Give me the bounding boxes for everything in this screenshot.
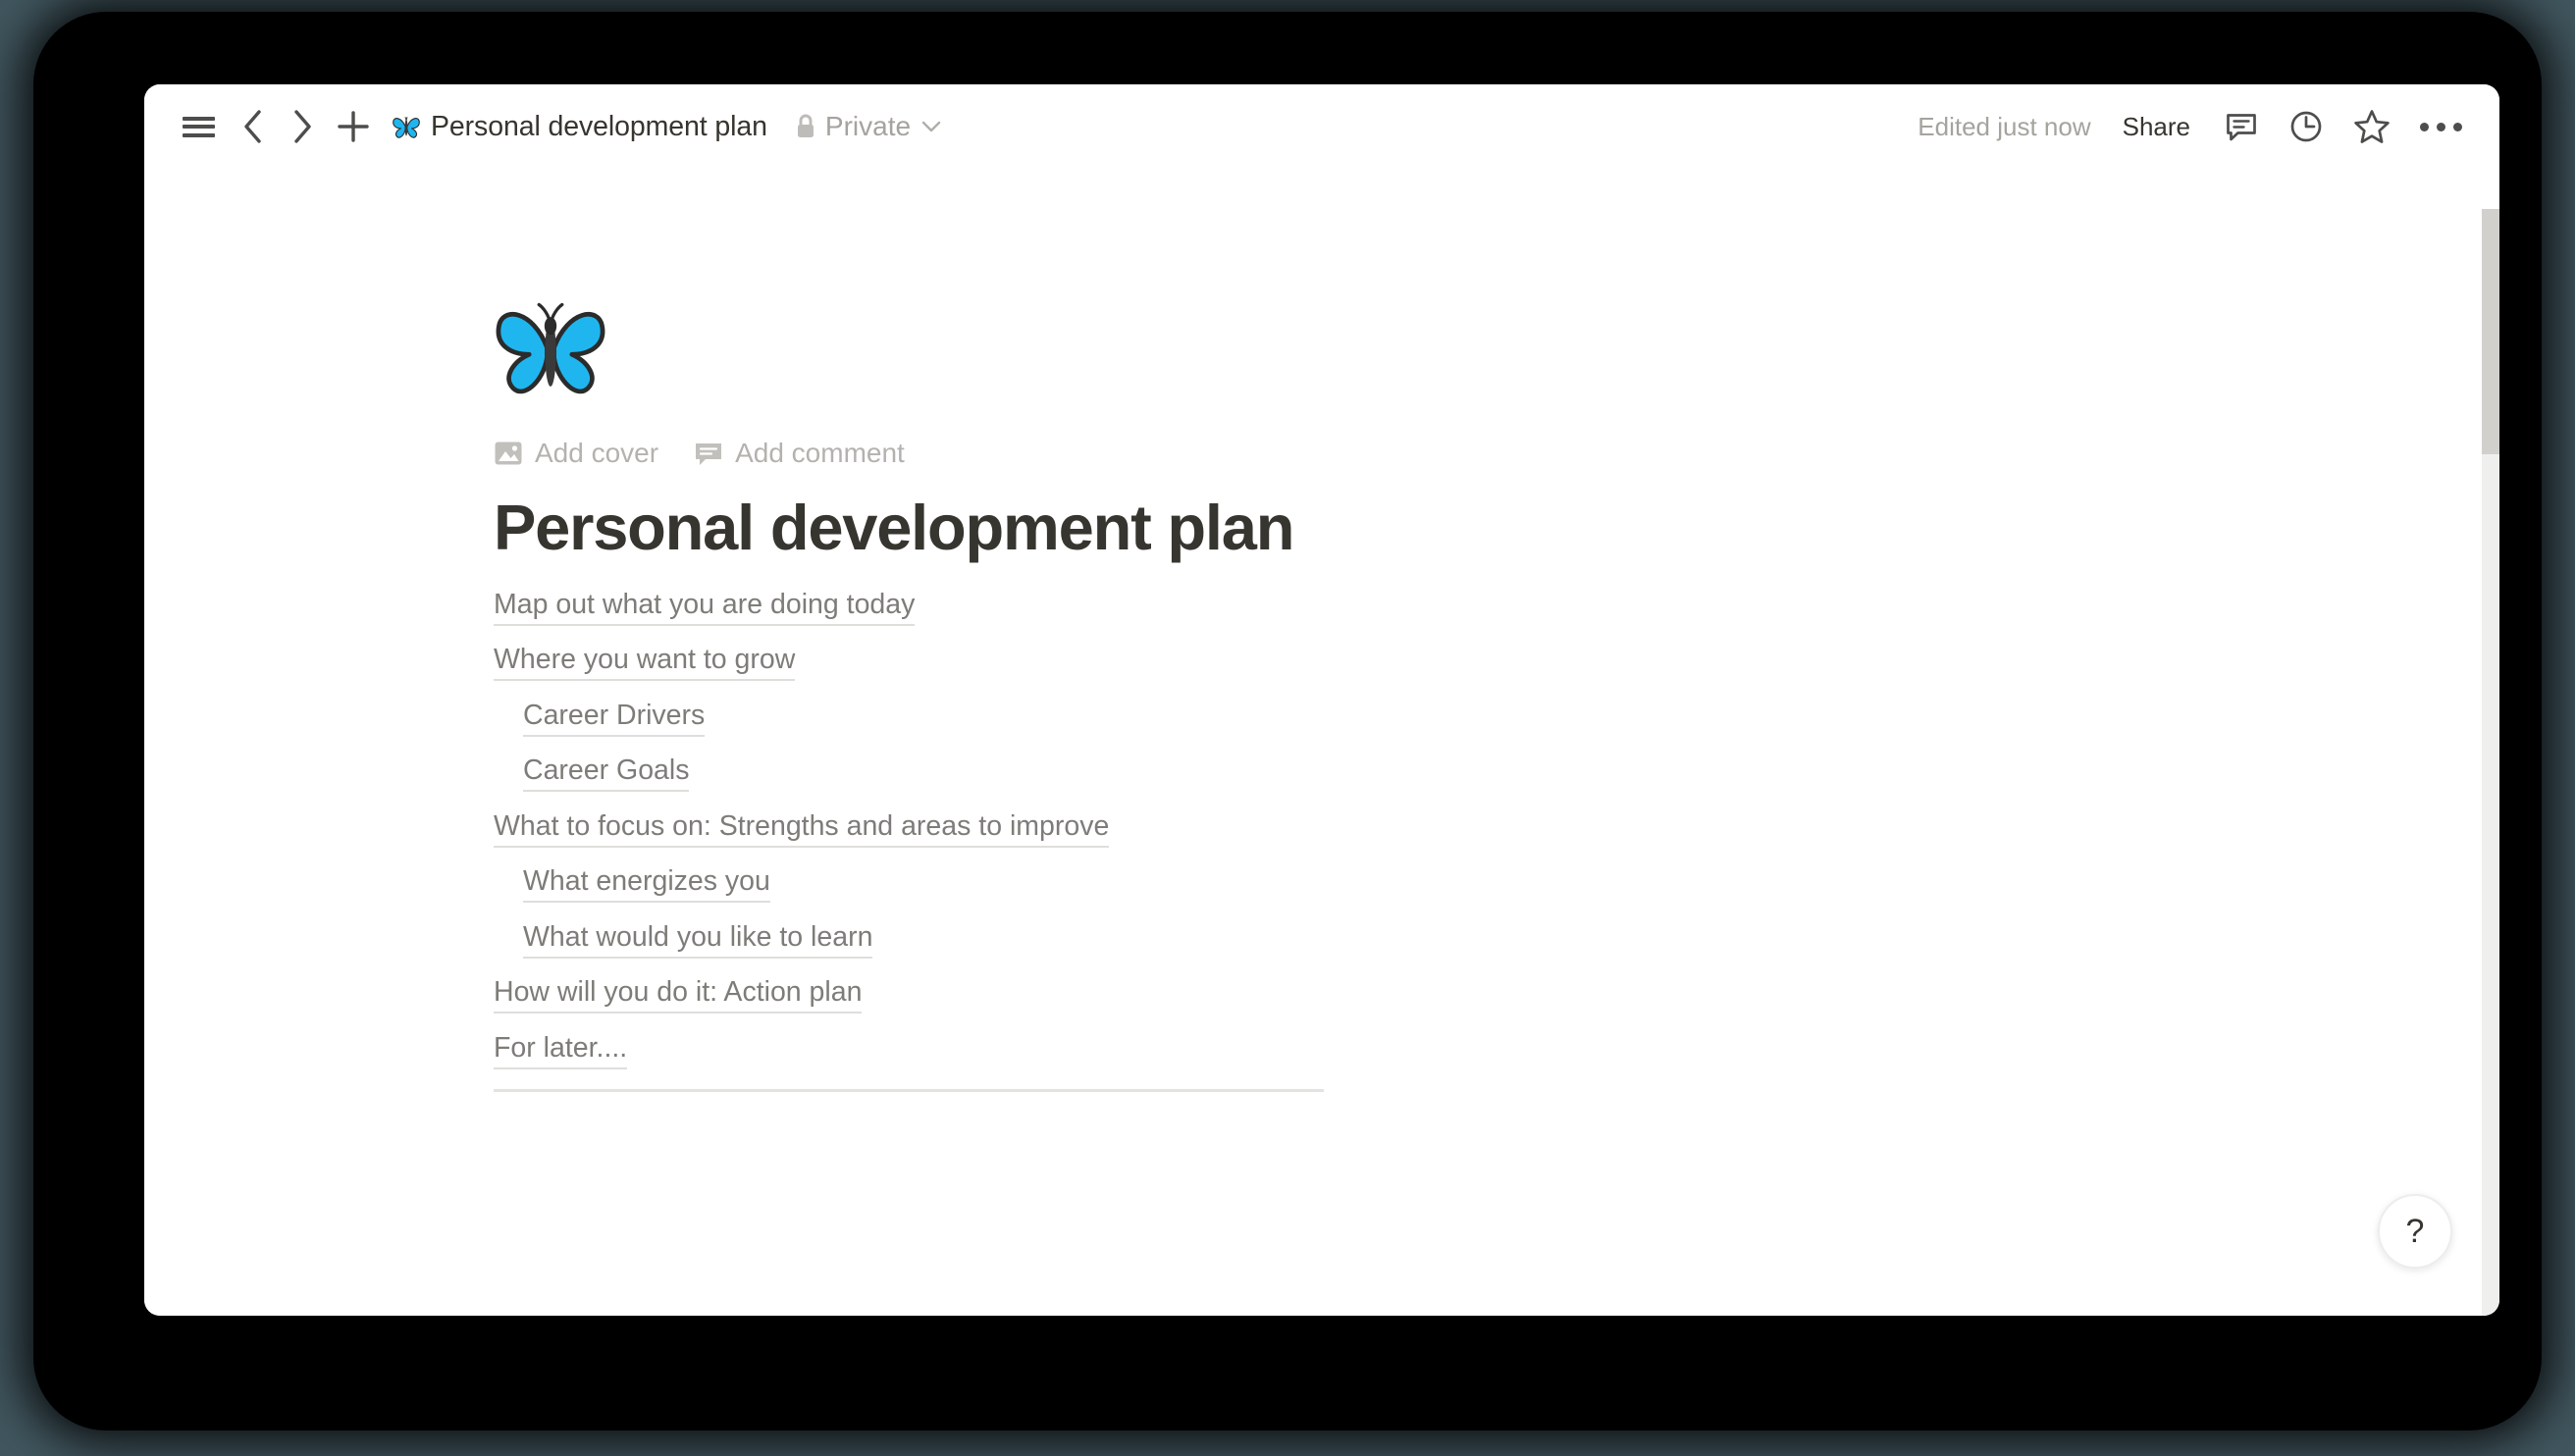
toc-item-label: For later.... bbox=[494, 1032, 627, 1069]
chevron-down-icon bbox=[920, 120, 942, 133]
add-comment-label: Add comment bbox=[735, 438, 905, 469]
toc-item[interactable]: For later.... bbox=[494, 1034, 2162, 1063]
privacy-dropdown[interactable]: Private bbox=[795, 111, 942, 142]
image-icon bbox=[494, 439, 523, 468]
toc-item[interactable]: What energizes you bbox=[523, 867, 2162, 896]
toc-item[interactable]: Career Goals bbox=[523, 756, 2162, 785]
breadcrumb[interactable]: Personal development plan bbox=[392, 111, 767, 143]
application-window: Personal development plan Private bbox=[144, 84, 2499, 1316]
share-button[interactable]: Share bbox=[2123, 112, 2190, 142]
add-cover-button[interactable]: Add cover bbox=[494, 438, 658, 469]
hamburger-line bbox=[183, 133, 215, 137]
privacy-label: Private bbox=[825, 111, 911, 142]
edit-status: Edited just now bbox=[1918, 112, 2090, 142]
page-scroll-area: Add cover Add comment bbox=[144, 169, 2499, 1316]
plus-icon[interactable] bbox=[337, 110, 370, 143]
star-icon[interactable] bbox=[2353, 108, 2391, 145]
toc-item-label: Career Goals bbox=[523, 754, 689, 792]
top-bar: Personal development plan Private bbox=[144, 84, 2499, 169]
toc-item-label: Map out what you are doing today bbox=[494, 589, 915, 626]
chevron-right-icon[interactable] bbox=[288, 108, 317, 145]
hamburger-line bbox=[183, 125, 215, 129]
toc-item-label: Career Drivers bbox=[523, 700, 705, 737]
content-divider bbox=[494, 1089, 1324, 1092]
page-title[interactable]: Personal development plan bbox=[494, 492, 2162, 565]
device-frame: Personal development plan Private bbox=[33, 12, 2542, 1430]
page-actions: Add cover Add comment bbox=[494, 433, 2162, 474]
vertical-scrollbar-track[interactable] bbox=[2482, 209, 2499, 1316]
hamburger-line bbox=[183, 117, 215, 121]
breadcrumb-title: Personal development plan bbox=[431, 111, 767, 143]
toc-item[interactable]: Where you want to grow bbox=[494, 646, 2162, 674]
toc-item[interactable]: What to focus on: Strengths and areas to… bbox=[494, 812, 2162, 841]
vertical-scrollbar-thumb[interactable] bbox=[2482, 209, 2499, 454]
toc-item-label: What energizes you bbox=[523, 865, 770, 903]
toc-item[interactable]: How will you do it: Action plan bbox=[494, 978, 2162, 1007]
help-button[interactable]: ? bbox=[2378, 1194, 2452, 1269]
add-cover-label: Add cover bbox=[535, 438, 658, 469]
top-bar-actions: Edited just now Share bbox=[1918, 108, 2462, 145]
comment-icon[interactable] bbox=[2224, 109, 2259, 144]
toc-item-label: What to focus on: Strengths and areas to… bbox=[494, 810, 1109, 848]
chevron-left-icon[interactable] bbox=[238, 108, 268, 145]
clock-icon[interactable] bbox=[2288, 109, 2324, 144]
ellipsis-dot bbox=[2453, 123, 2462, 131]
toc-item-label: What would you like to learn bbox=[523, 921, 872, 959]
comment-icon bbox=[694, 439, 723, 468]
help-label: ? bbox=[2406, 1213, 2425, 1251]
add-comment-button[interactable]: Add comment bbox=[694, 438, 905, 469]
page-content: Add cover Add comment bbox=[494, 169, 2162, 1092]
hamburger-icon[interactable] bbox=[183, 112, 215, 141]
butterfly-emoji[interactable] bbox=[494, 290, 607, 404]
ellipsis-dot bbox=[2437, 123, 2445, 131]
ellipsis-dot bbox=[2420, 123, 2429, 131]
butterfly-emoji bbox=[392, 112, 421, 141]
toc-item[interactable]: Map out what you are doing today bbox=[494, 591, 2162, 619]
ellipsis-icon[interactable] bbox=[2420, 123, 2462, 131]
lock-icon bbox=[795, 113, 816, 140]
toc-item[interactable]: Career Drivers bbox=[523, 702, 2162, 730]
toc-item-label: Where you want to grow bbox=[494, 644, 795, 681]
desktop-background: Personal development plan Private bbox=[0, 0, 2575, 1456]
table-of-contents: Map out what you are doing today Where y… bbox=[494, 591, 2162, 1063]
toc-item-label: How will you do it: Action plan bbox=[494, 976, 862, 1014]
toc-item[interactable]: What would you like to learn bbox=[523, 923, 2162, 952]
